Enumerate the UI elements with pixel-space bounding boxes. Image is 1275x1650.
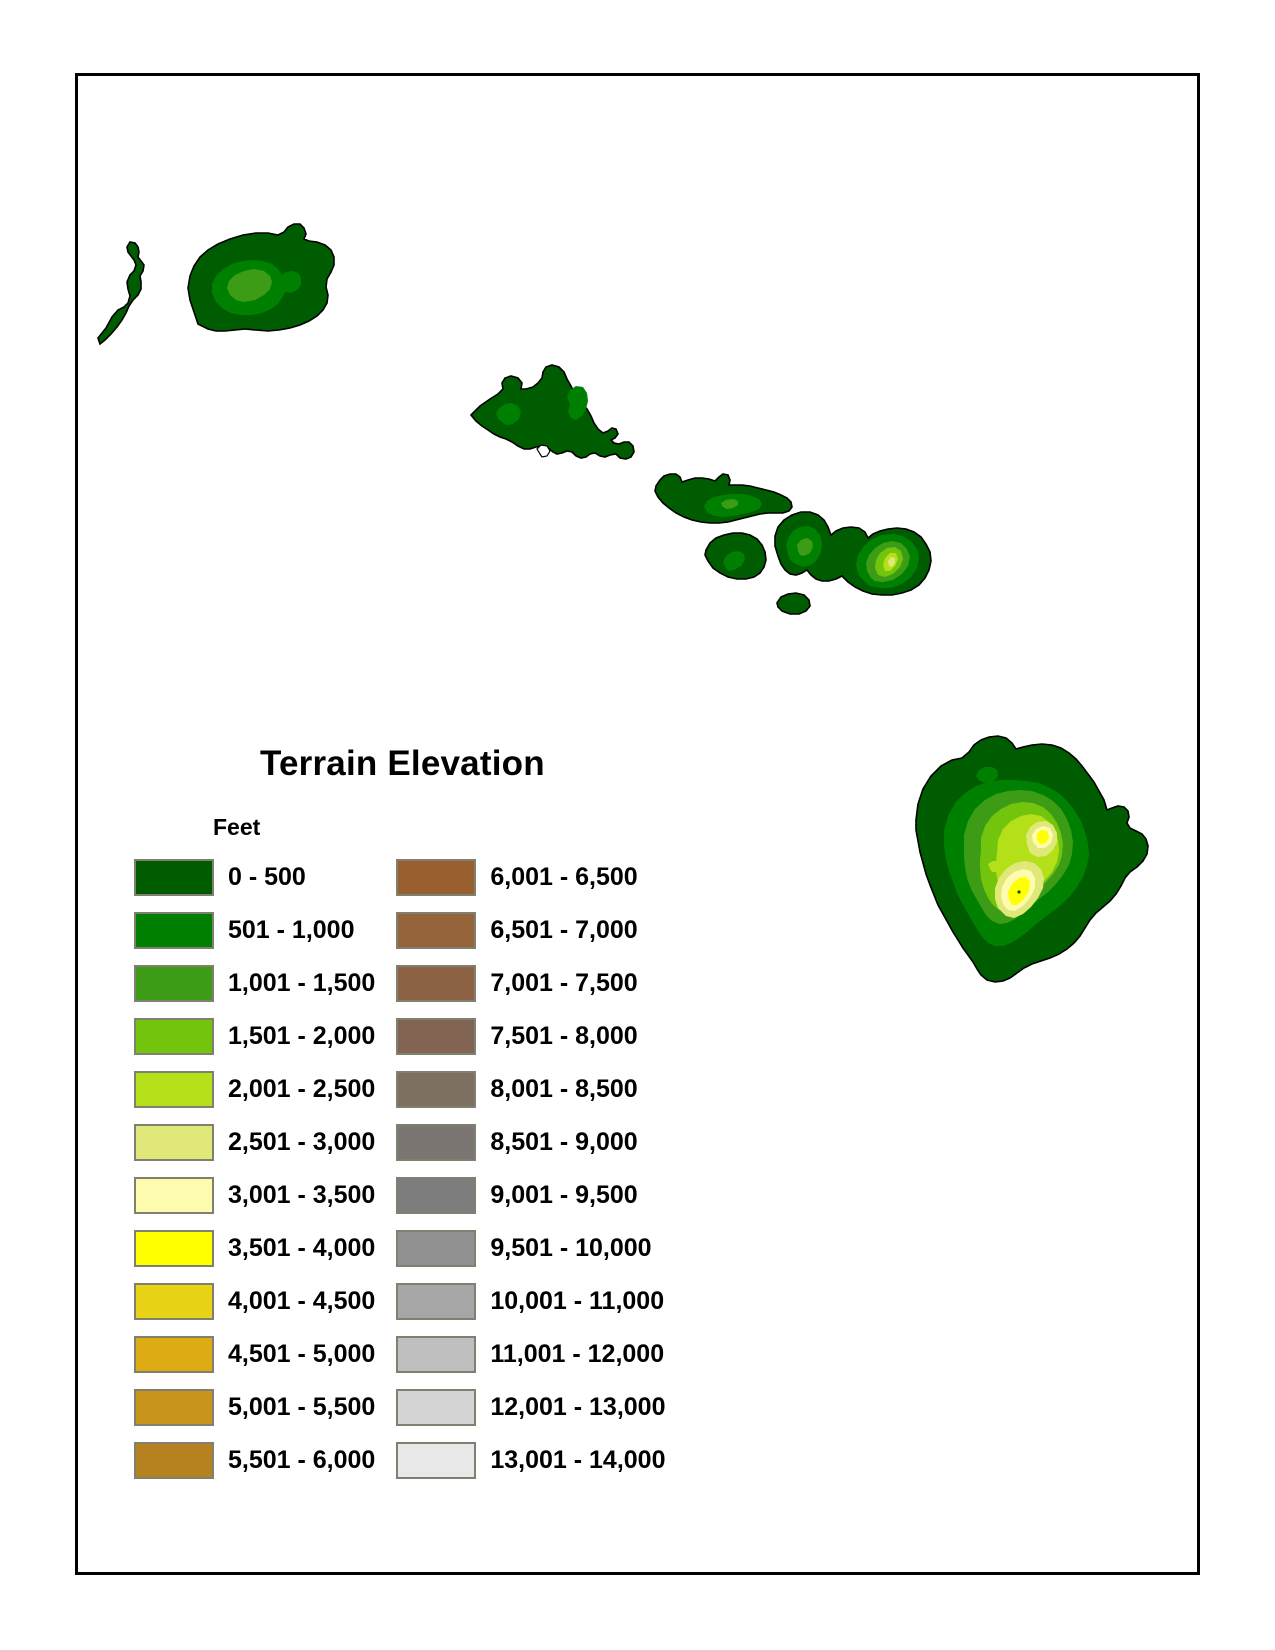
legend-swatch <box>134 859 214 896</box>
legend-swatch <box>396 859 476 896</box>
legend-item-label: 3,501 - 4,000 <box>228 1236 375 1261</box>
legend-swatch <box>396 1177 476 1214</box>
legend-columns: 0 - 500 501 - 1,000 1,001 - 1,500 1,501 … <box>134 851 1163 1487</box>
legend-swatch <box>134 912 214 949</box>
legend-swatch <box>396 1230 476 1267</box>
legend-item[interactable]: 0 - 500 <box>134 851 375 904</box>
legend-item-label: 5,001 - 5,500 <box>228 1395 375 1420</box>
island-molokai[interactable] <box>655 474 792 523</box>
legend-item-label: 13,001 - 14,000 <box>490 1448 665 1473</box>
legend-swatch <box>134 1336 214 1373</box>
legend-swatch <box>134 1124 214 1161</box>
island-oahu[interactable] <box>471 365 634 459</box>
island-kahoolawe[interactable] <box>777 593 810 614</box>
legend-swatch <box>134 1071 214 1108</box>
legend-swatch <box>396 1283 476 1320</box>
legend-swatch <box>396 1336 476 1373</box>
legend-item[interactable]: 501 - 1,000 <box>134 904 375 957</box>
island-lanai[interactable] <box>705 533 766 579</box>
legend-item-label: 0 - 500 <box>228 865 306 890</box>
legend-swatch <box>396 1389 476 1426</box>
legend-item-label: 1,001 - 1,500 <box>228 971 375 996</box>
legend-item-label: 1,501 - 2,000 <box>228 1024 375 1049</box>
legend-item-label: 9,501 - 10,000 <box>490 1236 651 1261</box>
legend-item-label: 6,001 - 6,500 <box>490 865 637 890</box>
legend-swatch <box>396 965 476 1002</box>
legend-item-label: 5,501 - 6,000 <box>228 1448 375 1473</box>
legend-item[interactable]: 10,001 - 11,000 <box>396 1275 665 1328</box>
legend-title: Terrain Elevation <box>260 746 1163 781</box>
legend-item-label: 3,001 - 3,500 <box>228 1183 375 1208</box>
legend-swatch <box>396 912 476 949</box>
legend-swatch <box>396 1442 476 1479</box>
legend-swatch <box>396 1018 476 1055</box>
legend-item[interactable]: 8,001 - 8,500 <box>396 1063 665 1116</box>
legend-swatch <box>134 1018 214 1055</box>
legend-item[interactable]: 5,501 - 6,000 <box>134 1434 375 1487</box>
island-niihau[interactable] <box>98 242 144 344</box>
legend-item[interactable]: 7,001 - 7,500 <box>396 957 665 1010</box>
legend-item-label: 6,501 - 7,000 <box>490 918 637 943</box>
legend-item-label: 4,001 - 4,500 <box>228 1289 375 1314</box>
legend-item-label: 11,001 - 12,000 <box>490 1342 664 1367</box>
legend-item[interactable]: 9,501 - 10,000 <box>396 1222 665 1275</box>
legend-item-label: 2,001 - 2,500 <box>228 1077 375 1102</box>
legend-item[interactable]: 7,501 - 8,000 <box>396 1010 665 1063</box>
legend-swatch <box>134 1442 214 1479</box>
legend-item[interactable]: 9,001 - 9,500 <box>396 1169 665 1222</box>
legend-column-left: 0 - 500 501 - 1,000 1,001 - 1,500 1,501 … <box>134 851 375 1487</box>
legend-item-label: 10,001 - 11,000 <box>490 1289 664 1314</box>
map-legend: Terrain Elevation Feet 0 - 500 501 - 1,0… <box>103 746 1163 1487</box>
legend-swatch <box>134 1389 214 1426</box>
legend-item-label: 8,501 - 9,000 <box>490 1130 637 1155</box>
legend-item[interactable]: 4,001 - 4,500 <box>134 1275 375 1328</box>
legend-item-label: 501 - 1,000 <box>228 918 355 943</box>
legend-item[interactable]: 1,501 - 2,000 <box>134 1010 375 1063</box>
legend-item[interactable]: 8,501 - 9,000 <box>396 1116 665 1169</box>
legend-item-label: 9,001 - 9,500 <box>490 1183 637 1208</box>
legend-item[interactable]: 1,001 - 1,500 <box>134 957 375 1010</box>
legend-item[interactable]: 12,001 - 13,000 <box>396 1381 665 1434</box>
legend-item[interactable]: 2,501 - 3,000 <box>134 1116 375 1169</box>
legend-swatch <box>134 1177 214 1214</box>
legend-swatch <box>396 1071 476 1108</box>
map-frame: Terrain Elevation Feet 0 - 500 501 - 1,0… <box>75 73 1200 1575</box>
island-kauai[interactable] <box>188 224 334 331</box>
island-maui[interactable] <box>775 512 931 595</box>
legend-item-label: 2,501 - 3,000 <box>228 1130 375 1155</box>
legend-item[interactable]: 3,501 - 4,000 <box>134 1222 375 1275</box>
legend-item-label: 12,001 - 13,000 <box>490 1395 665 1420</box>
legend-item[interactable]: 11,001 - 12,000 <box>396 1328 665 1381</box>
legend-item-label: 7,001 - 7,500 <box>490 971 637 996</box>
legend-item[interactable]: 2,001 - 2,500 <box>134 1063 375 1116</box>
legend-item[interactable]: 6,001 - 6,500 <box>396 851 665 904</box>
legend-item[interactable]: 3,001 - 3,500 <box>134 1169 375 1222</box>
legend-swatch <box>134 1230 214 1267</box>
legend-item-label: 7,501 - 8,000 <box>490 1024 637 1049</box>
legend-swatch <box>396 1124 476 1161</box>
legend-item-label: 4,501 - 5,000 <box>228 1342 375 1367</box>
legend-item[interactable]: 5,001 - 5,500 <box>134 1381 375 1434</box>
legend-units-label: Feet <box>213 816 1163 839</box>
legend-item[interactable]: 6,501 - 7,000 <box>396 904 665 957</box>
legend-swatch <box>134 1283 214 1320</box>
legend-item[interactable]: 4,501 - 5,000 <box>134 1328 375 1381</box>
legend-item-label: 8,001 - 8,500 <box>490 1077 637 1102</box>
legend-column-right: 6,001 - 6,500 6,501 - 7,000 7,001 - 7,50… <box>396 851 665 1487</box>
legend-swatch <box>134 965 214 1002</box>
legend-item[interactable]: 13,001 - 14,000 <box>396 1434 665 1487</box>
